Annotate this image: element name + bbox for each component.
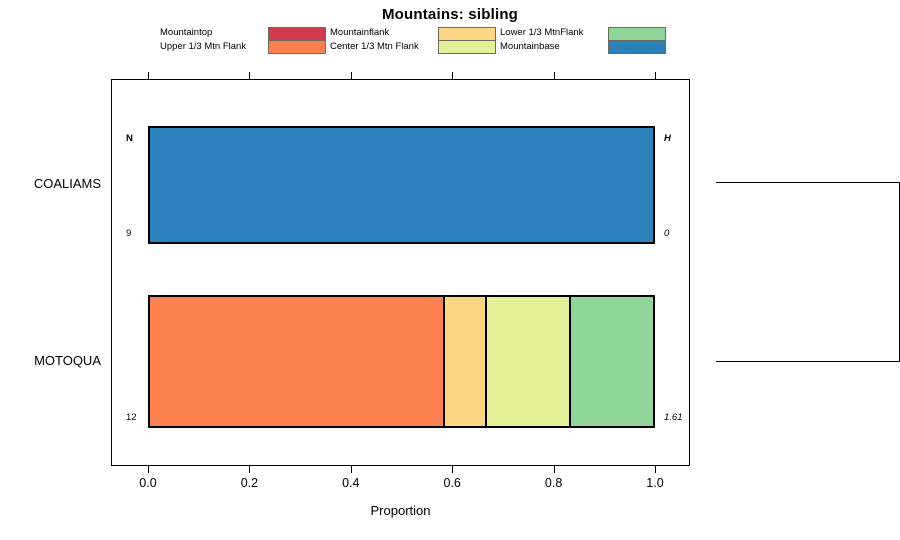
row-label-coaliams: COALIAMS	[0, 176, 101, 191]
x-tick-mark	[554, 466, 555, 473]
x-tick-mark-top	[655, 72, 656, 79]
legend-labels: Lower 1/3 MtnFlankMountainbase	[500, 26, 600, 56]
row-diversity: 0	[664, 228, 669, 239]
legend-swatch	[269, 41, 325, 54]
legend-swatch	[609, 28, 665, 41]
legend-swatch-group	[608, 27, 666, 54]
bar-segment	[569, 297, 653, 426]
legend-item-label: Mountainflank	[330, 26, 434, 40]
bar-segment	[150, 128, 653, 242]
x-tick-label: 0.2	[229, 476, 269, 490]
legend-item-label: Upper 1/3 Mtn Flank	[160, 40, 264, 54]
legend-swatch	[609, 41, 665, 54]
legend-swatch-group	[438, 27, 496, 54]
x-tick-mark-top	[249, 72, 250, 79]
legend-item-label: Mountainbase	[500, 40, 604, 54]
row-count: 9	[126, 228, 131, 239]
legend-item-label: Center 1/3 Mtn Flank	[330, 40, 434, 54]
row-label-motoqua: MOTOQUA	[0, 353, 101, 368]
legend-swatch	[269, 28, 325, 41]
legend-item-label: Mountaintop	[160, 26, 264, 40]
legend-swatch	[439, 41, 495, 54]
x-tick-mark-top	[554, 72, 555, 79]
legend-swatch	[439, 28, 495, 41]
x-axis-title: Proportion	[0, 503, 801, 518]
x-tick-label: 1.0	[635, 476, 675, 490]
bar-segment	[485, 297, 569, 426]
row-diversity: 1.61	[664, 412, 683, 423]
side-panel	[716, 182, 900, 362]
bar-segment	[443, 297, 485, 426]
legend-labels: MountainflankCenter 1/3 Mtn Flank	[330, 26, 430, 56]
bar-segment	[150, 297, 443, 426]
x-tick-label: 0.6	[432, 476, 472, 490]
x-tick-label: 0.0	[128, 476, 168, 490]
x-tick-mark	[655, 466, 656, 473]
x-tick-label: 0.8	[534, 476, 574, 490]
legend-swatch-group	[268, 27, 326, 54]
x-tick-mark	[249, 466, 250, 473]
row-count: 12	[126, 412, 137, 423]
x-tick-mark-top	[148, 72, 149, 79]
x-tick-mark	[351, 466, 352, 473]
x-tick-mark	[148, 466, 149, 473]
stacked-bar	[148, 126, 655, 244]
legend-item-label: Lower 1/3 MtnFlank	[500, 26, 604, 40]
stacked-bar	[148, 295, 655, 428]
legend-labels: MountaintopUpper 1/3 Mtn Flank	[160, 26, 260, 56]
x-tick-mark-top	[351, 72, 352, 79]
x-tick-mark-top	[452, 72, 453, 79]
page-title: Mountains: sibling	[0, 6, 900, 23]
count-header: N	[126, 133, 133, 144]
diversity-header: H	[664, 133, 671, 144]
chart-canvas: Mountains: sibling MountaintopUpper 1/3 …	[0, 0, 900, 540]
x-tick-mark	[452, 466, 453, 473]
x-tick-label: 0.4	[331, 476, 371, 490]
legend: MountaintopUpper 1/3 Mtn FlankMountainfl…	[160, 26, 660, 56]
